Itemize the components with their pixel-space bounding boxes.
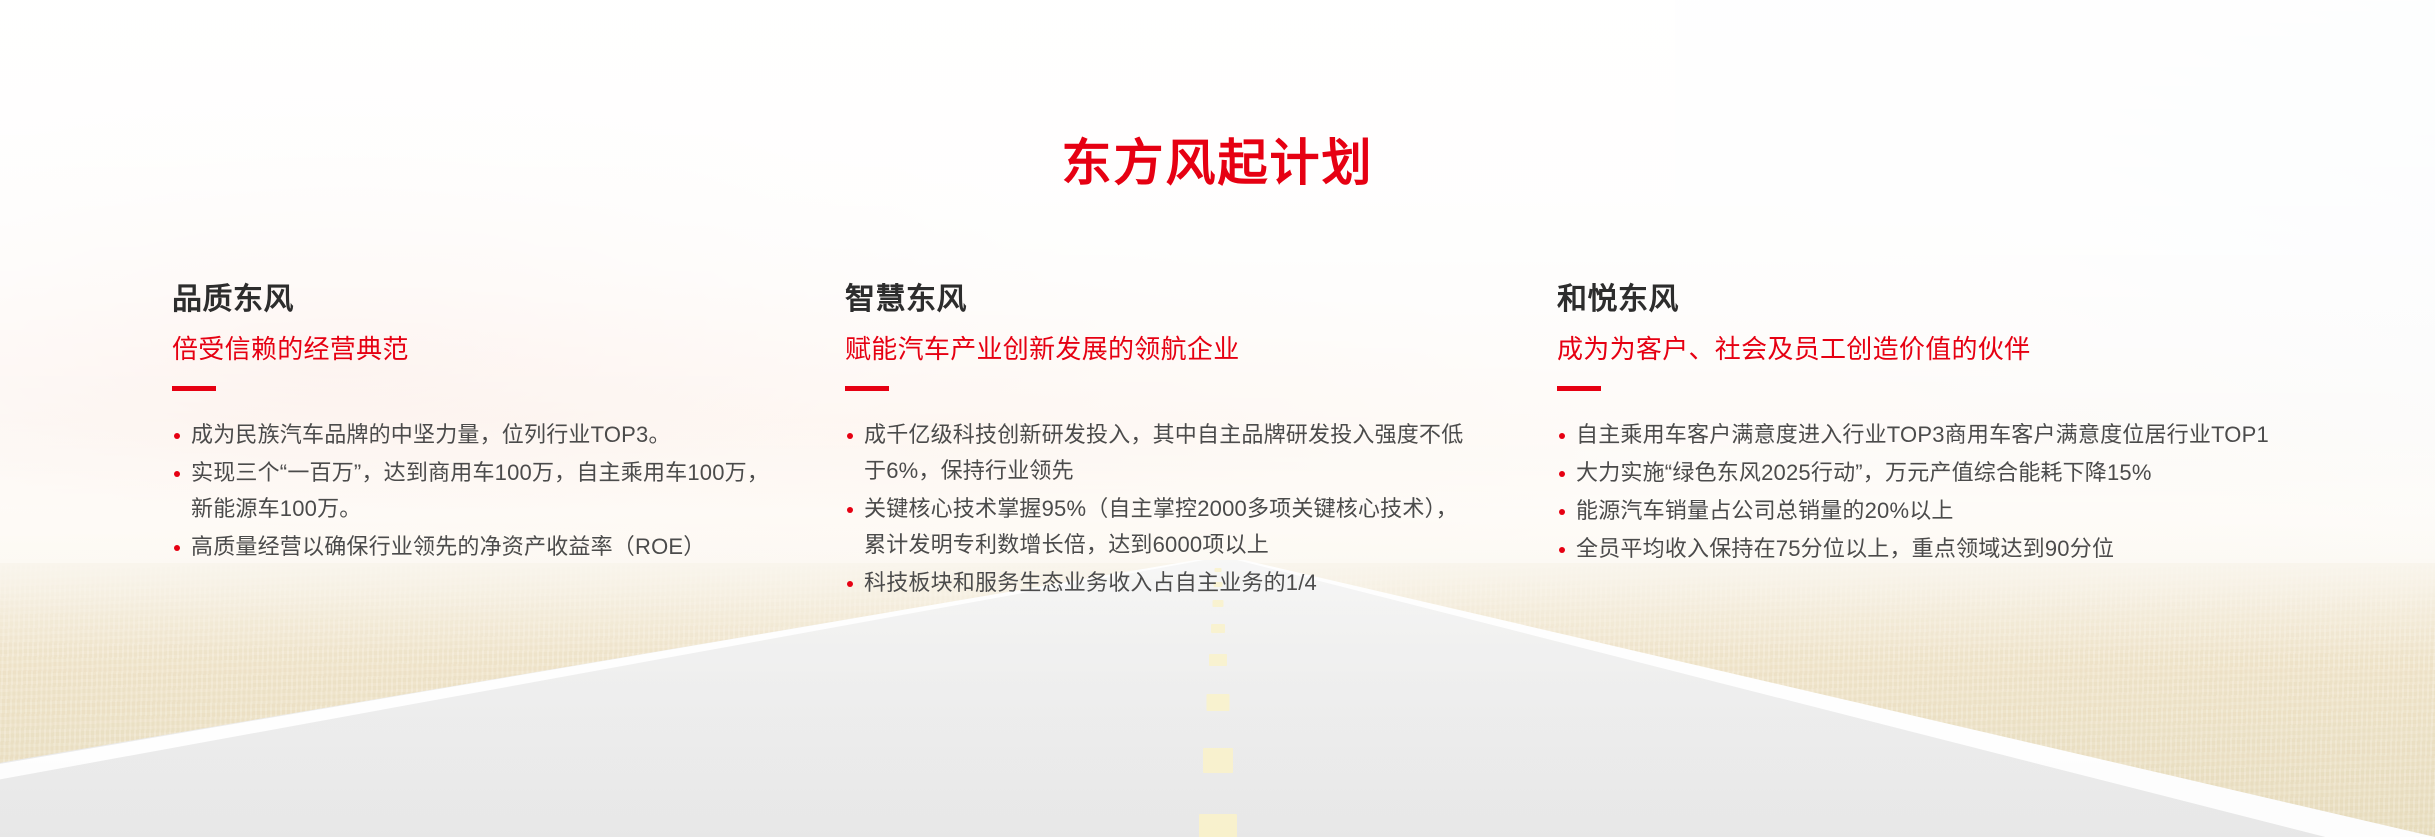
column-divider [172, 386, 216, 391]
list-item: 科技板块和服务生态业务收入占自主业务的1/4 [845, 565, 1475, 601]
column-divider [1557, 386, 1601, 391]
list-item: 全员平均收入保持在75分位以上，重点领域达到90分位 [1557, 531, 2297, 567]
column-subtitle: 赋能汽车产业创新发展的领航企业 [845, 335, 1475, 364]
column-harmony: 和悦东风 成为为客户、社会及员工创造价值的伙伴 自主乘用车客户满意度进入行业TO… [1557, 283, 2297, 569]
column-heading: 智慧东风 [845, 283, 1475, 316]
column-bullet-list: 成为民族汽车品牌的中坚力量，位列行业TOP3。 实现三个“一百万”，达到商用车1… [172, 417, 772, 565]
list-item: 能源汽车销量占公司总销量的20%以上 [1557, 493, 2297, 529]
slide-content: 东方风起计划 品质东风 倍受信赖的经营典范 成为民族汽车品牌的中坚力量，位列行业… [0, 0, 2435, 837]
column-bullet-list: 自主乘用车客户满意度进入行业TOP3商用车客户满意度位居行业TOP1 大力实施“… [1557, 417, 2297, 567]
list-item: 高质量经营以确保行业领先的净资产收益率（ROE） [172, 529, 772, 565]
column-heading: 和悦东风 [1557, 283, 2297, 316]
slide-root: 东方风起计划 品质东风 倍受信赖的经营典范 成为民族汽车品牌的中坚力量，位列行业… [0, 0, 2435, 837]
list-item: 关键核心技术掌握95%（自主掌控2000多项关键核心技术），累计发明专利数增长倍… [845, 491, 1475, 563]
list-item: 成千亿级科技创新研发投入，其中自主品牌研发投入强度不低于6%，保持行业领先 [845, 417, 1475, 489]
list-item: 自主乘用车客户满意度进入行业TOP3商用车客户满意度位居行业TOP1 [1557, 417, 2297, 453]
page-title: 东方风起计划 [0, 138, 2435, 188]
list-item: 大力实施“绿色东风2025行动”，万元产值综合能耗下降15% [1557, 455, 2297, 491]
column-intelligence: 智慧东风 赋能汽车产业创新发展的领航企业 成千亿级科技创新研发投入，其中自主品牌… [845, 283, 1475, 603]
list-item: 实现三个“一百万”，达到商用车100万，自主乘用车100万，新能源车100万。 [172, 455, 772, 527]
column-heading: 品质东风 [172, 283, 772, 316]
column-subtitle: 倍受信赖的经营典范 [172, 335, 772, 364]
column-quality: 品质东风 倍受信赖的经营典范 成为民族汽车品牌的中坚力量，位列行业TOP3。 实… [172, 283, 772, 567]
column-divider [845, 386, 889, 391]
column-subtitle: 成为为客户、社会及员工创造价值的伙伴 [1557, 335, 2297, 364]
column-bullet-list: 成千亿级科技创新研发投入，其中自主品牌研发投入强度不低于6%，保持行业领先 关键… [845, 417, 1475, 601]
list-item: 成为民族汽车品牌的中坚力量，位列行业TOP3。 [172, 417, 772, 453]
